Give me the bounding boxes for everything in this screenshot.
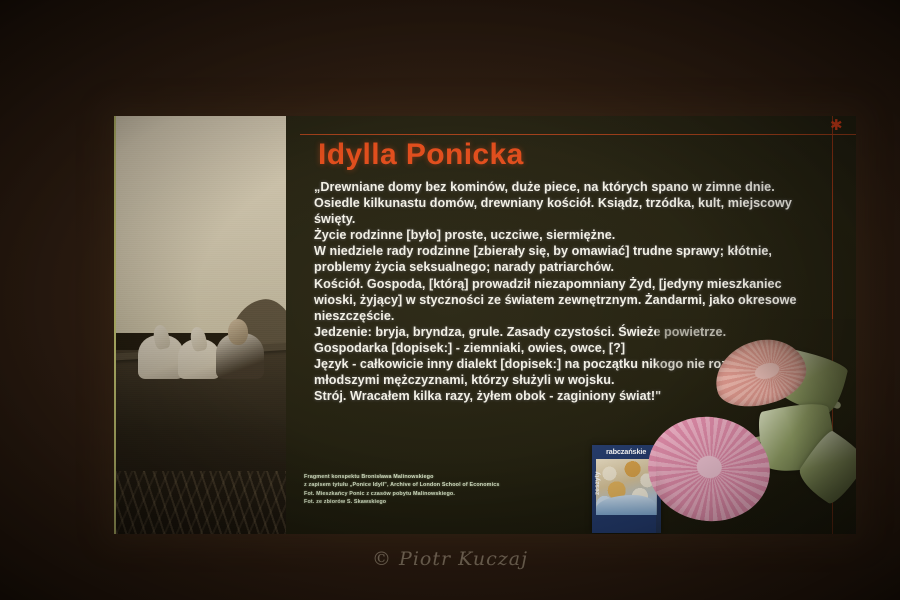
- slide-footnote: Fragment konspektu Bronisława Malinowski…: [304, 473, 594, 507]
- book-cover-title: rabczańskie: [595, 447, 659, 456]
- body-line: Życie rodzinne [było] proste, uczciwe, s…: [314, 227, 842, 243]
- body-line: Gospodarka [dopisek:] - ziemniaki, owies…: [314, 340, 842, 356]
- historical-photograph: [114, 116, 286, 534]
- photo-figure-head: [228, 319, 248, 345]
- photographer-watermark: © Piotr Kuczaj: [0, 548, 900, 570]
- red-horizontal-rule: [300, 134, 856, 135]
- projected-slide: ✱ Idylla Ponicka „Drewniane domy bez kom…: [114, 116, 856, 534]
- red-star-icon: ✱: [830, 120, 841, 131]
- body-line: Strój. Wracałem kilka razy, żyłem obok -…: [314, 388, 842, 404]
- body-line: Kościół. Gospoda, [którą] prowadził niez…: [314, 276, 842, 292]
- body-line: Osiedle kilkunastu domów, drewniany kośc…: [314, 195, 842, 211]
- footnote-line: z zapisem tytułu „Ponice Idyll", Archive…: [304, 481, 594, 489]
- book-cover-image: zeszyty rabczańskie: [592, 445, 661, 533]
- body-line: Język - całkowicie inny dialekt [dopisek…: [314, 356, 842, 372]
- slide-body-text: „Drewniane domy bez kominów, duże piece,…: [314, 179, 842, 404]
- body-line: święty.: [314, 211, 842, 227]
- slide-title: Idylla Ponicka: [318, 138, 524, 172]
- body-line: Jedzenie: bryja, bryndza, grule. Zasady …: [314, 324, 842, 340]
- footnote-line: Fragment konspektu Bronisława Malinowski…: [304, 473, 594, 481]
- body-line: nieszczęście.: [314, 308, 842, 324]
- body-line: „Drewniane domy bez kominów, duże piece,…: [314, 179, 842, 195]
- body-line: problemy życia seksualnego; narady patri…: [314, 259, 842, 275]
- footnote-line: Fot. ze zbiorów S. Skawskiego: [304, 498, 594, 506]
- photo-cart-weave: [116, 471, 286, 534]
- body-line: młodszymi mężczyznami, którzy służyli w …: [314, 372, 842, 388]
- body-line: W niedziele rady rodzinne [zbierały się,…: [314, 243, 842, 259]
- body-line: wioski, żyjący] w styczności ze światem …: [314, 292, 842, 308]
- footnote-line: Fot. Mieszkańcy Ponic z czasów pobytu Ma…: [304, 490, 594, 498]
